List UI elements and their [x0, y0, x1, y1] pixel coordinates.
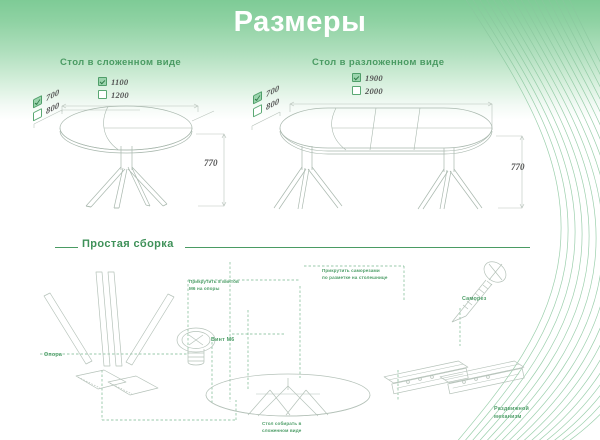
annotation-line: М6 на опоры: [189, 286, 239, 293]
option-row[interactable]: 1100: [98, 76, 129, 87]
divider-line-right: [185, 247, 530, 248]
annotation-assemble-folded: Стол собирать в сложенном виде: [262, 421, 301, 434]
annotation-line: сложенном виде: [262, 428, 301, 435]
checkbox-unchecked[interactable]: [352, 86, 361, 95]
folded-width-options[interactable]: 1100 1200: [98, 76, 129, 102]
option-row[interactable]: 1900: [352, 72, 383, 83]
part-label-extension-mechanism: Раздвижной механизм: [494, 406, 529, 421]
part-label-line: Раздвижной: [494, 406, 529, 414]
option-label: 2000: [365, 86, 383, 96]
poster-page: Размеры Стол в сложенном виде: [0, 0, 600, 440]
option-label: 1200: [111, 90, 129, 100]
folded-table-drawing: [28, 66, 238, 211]
folded-height-value: 770: [204, 158, 218, 168]
annotation-line: Прикрутить 8 винтов: [189, 279, 239, 286]
divider-line-left: [55, 247, 78, 248]
section-title-folded: Стол в сложенном виде: [60, 57, 181, 68]
part-label-selftapping-screw: Саморез: [462, 296, 487, 304]
annotation-line: Стол собирать в: [262, 421, 301, 428]
checkbox-checked[interactable]: [352, 73, 361, 82]
unfolded-table-drawing: [248, 66, 538, 211]
section-title-unfolded: Стол в разложенном виде: [312, 57, 444, 68]
annotation-selftapping: Прикрутить саморезами по разметке на сто…: [322, 268, 387, 281]
part-label-line: механизм: [494, 414, 529, 422]
option-row[interactable]: 2000: [352, 85, 383, 96]
assembly-title: Простая сборка: [82, 238, 174, 250]
option-row[interactable]: 1200: [98, 89, 129, 100]
assembly-section-header: Простая сборка: [0, 238, 600, 256]
option-label: 1900: [365, 73, 383, 83]
checkbox-unchecked[interactable]: [98, 90, 107, 99]
checkbox-checked[interactable]: [98, 77, 107, 86]
part-label-bolt: Винт М6: [211, 337, 235, 345]
annotation-line: Прикрутить саморезами: [322, 268, 387, 275]
checkbox-unchecked[interactable]: [253, 104, 262, 117]
option-label: 1100: [111, 77, 128, 87]
unfolded-width-options[interactable]: 1900 2000: [352, 72, 383, 98]
annotation-screws: Прикрутить 8 винтов М6 на опоры: [189, 279, 239, 292]
page-title: Размеры: [0, 6, 600, 39]
annotation-line: по разметке на столешнице: [322, 275, 387, 282]
checkbox-unchecked[interactable]: [33, 108, 42, 121]
unfolded-height-value: 770: [511, 162, 525, 172]
part-label-support: Опора: [44, 352, 62, 360]
